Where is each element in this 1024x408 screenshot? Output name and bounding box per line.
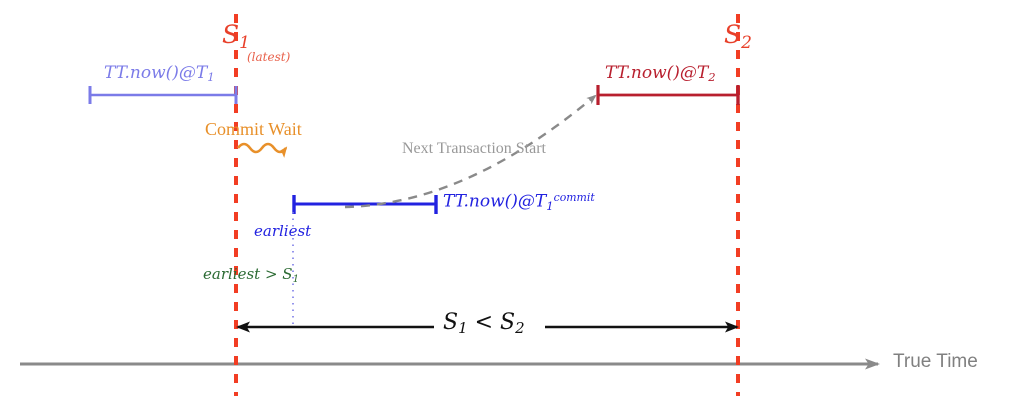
interval-tt-now-t1 bbox=[89, 86, 237, 104]
tt-now-t1-commit-superscript: commit bbox=[554, 191, 595, 204]
tt-now-t1-commit-subscript: 1 bbox=[546, 199, 553, 213]
commit-wait-wave bbox=[238, 144, 286, 152]
span-subscript-1: 1 bbox=[458, 319, 468, 337]
commit-wait-label: Commit Wait bbox=[205, 120, 302, 138]
interval-label-tt-now-t1: TT.now()@T1 bbox=[104, 65, 215, 84]
tt-now-t2-subscript: 2 bbox=[708, 70, 715, 84]
interval-label-tt-now-t2: TT.now()@T2 bbox=[605, 65, 716, 84]
commit-wait-squiggle-arrow bbox=[238, 144, 286, 152]
true-time-axis-label: True Time bbox=[893, 352, 978, 371]
span-subscript-2: 2 bbox=[515, 319, 525, 337]
interval-label-tt-now-t1-commit: TT.now()@T1commit bbox=[443, 193, 595, 212]
boundary-note-s1-latest: (latest) bbox=[247, 51, 290, 63]
next-transaction-start-label: Next Transaction Start bbox=[402, 141, 546, 157]
earliest-gt-subscript: 1 bbox=[293, 274, 299, 285]
boundary-label-s2: S2 bbox=[724, 22, 752, 52]
span-middle-operator: < S bbox=[468, 310, 516, 335]
span-label-s1-lt-s2: S1 < S2 bbox=[443, 312, 525, 336]
s2-subscript: 2 bbox=[741, 33, 752, 53]
diagram-canvas: S1 (latest) S2 TT.now()@T1 TT.now()@T1co… bbox=[0, 0, 1024, 408]
interval-tt-now-t2 bbox=[597, 85, 739, 105]
tt-now-t1-subscript: 1 bbox=[207, 70, 214, 84]
earliest-label: earliest bbox=[254, 224, 311, 239]
earliest-greater-than-s1-label: earliest > S1 bbox=[203, 267, 299, 285]
boundary-label-s1: S1 bbox=[222, 22, 250, 52]
